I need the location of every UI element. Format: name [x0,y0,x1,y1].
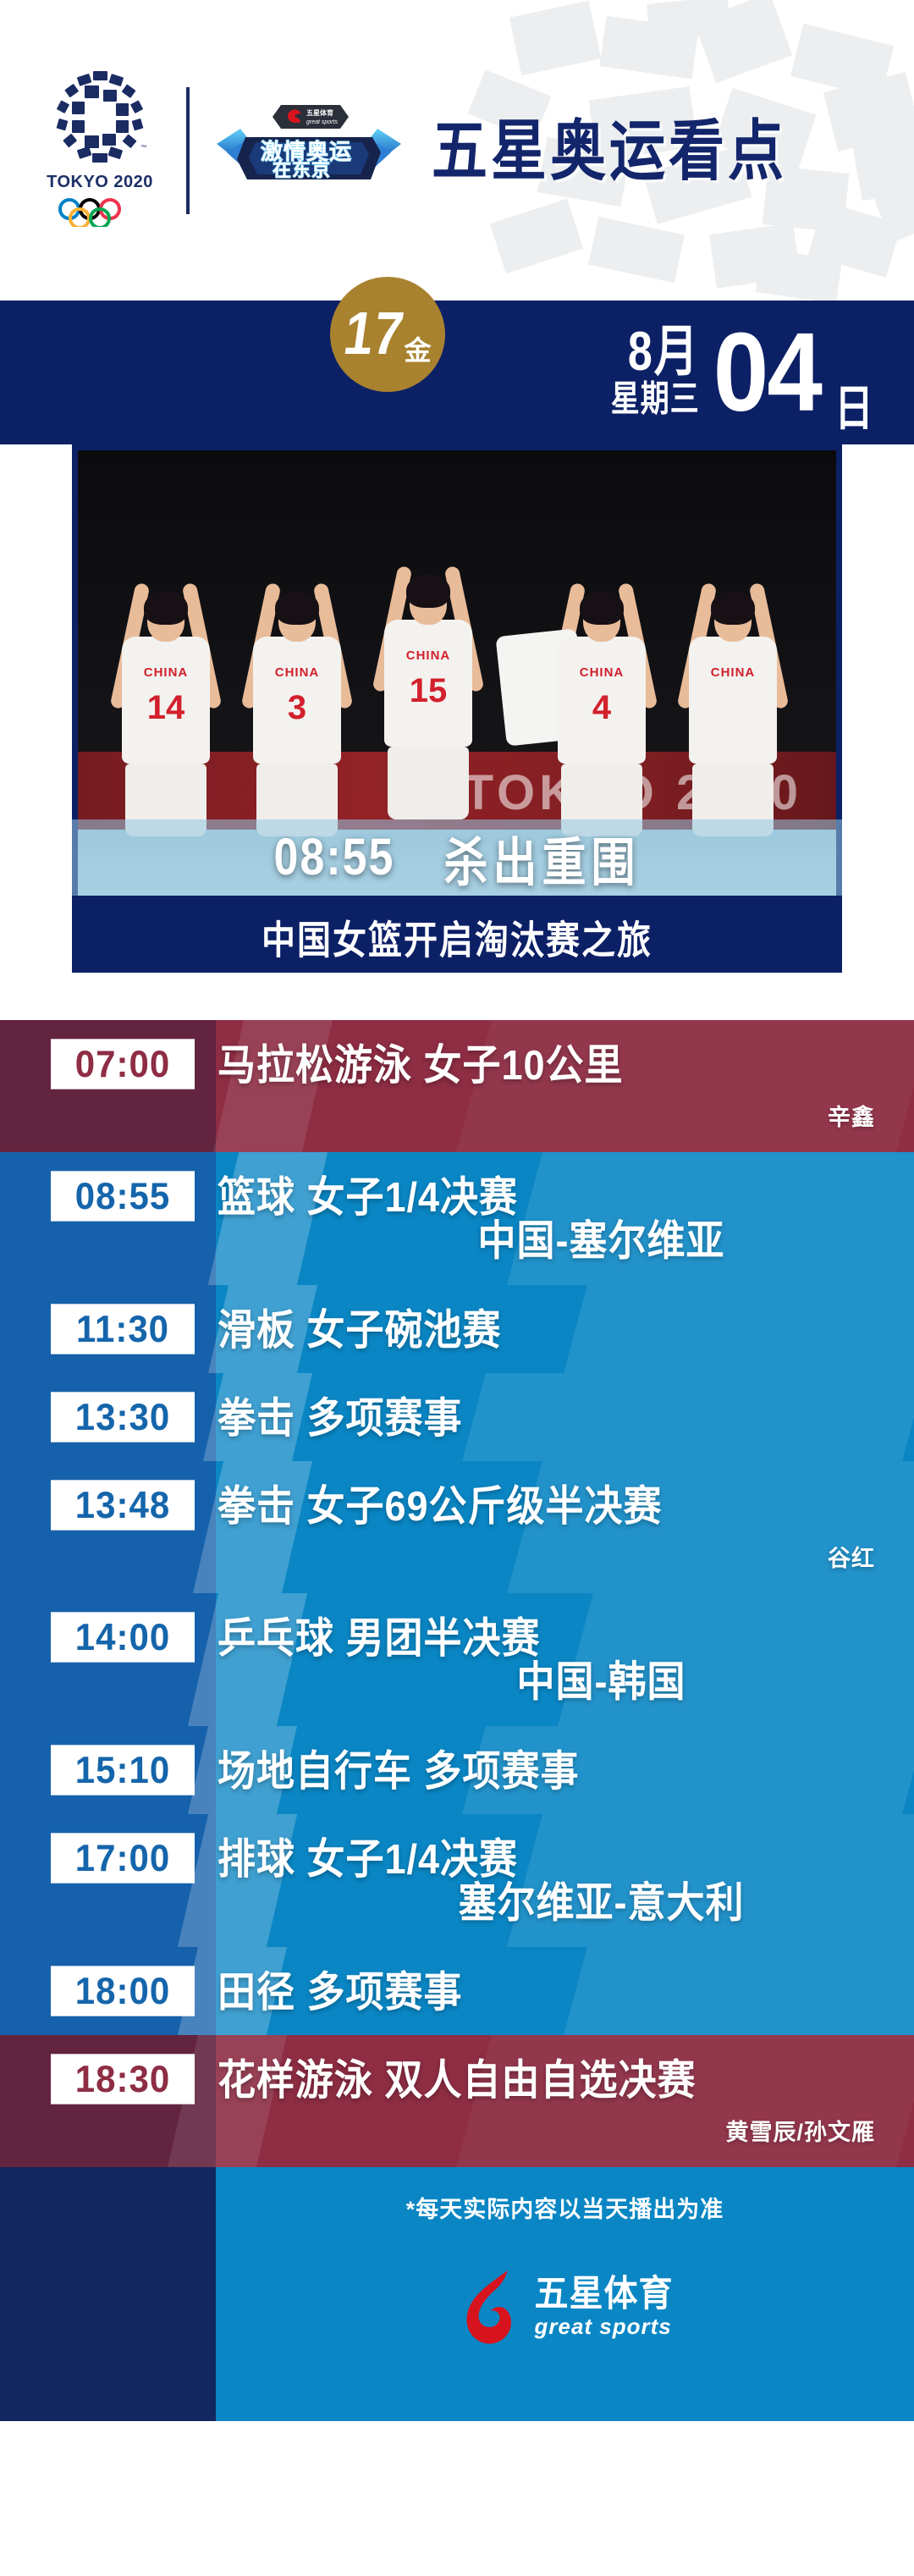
date-banner: 17 金 8月 星期三 04 日 [0,301,914,444]
date-display: 8月 星期三 04 日 [611,301,873,444]
schedule-list: 07:00马拉松游泳 女子10公里辛鑫08:55篮球 女子1/4决赛中国-塞尔维… [0,1020,914,2167]
schedule-row[interactable]: 13:48拳击 女子69公斤级半决赛谷红 [0,1461,914,1593]
schedule-row[interactable]: 15:10场地自行车 多项赛事 [0,1726,914,1814]
tokyo-2020-wordmark: TOKYO 2020 [47,173,153,192]
date-weekday: 星期三 [611,382,700,420]
featured-time: 08:55 [273,828,394,888]
gold-count-number: 17 [339,304,406,364]
event-time-badge: 08:55 [51,1171,195,1221]
jersey-text: CHINA [558,665,646,680]
event-athlete: 黄雪辰/孙文雁 [217,2114,875,2147]
date-month: 8月 [628,323,700,381]
player-figure: CHINA [683,598,783,836]
featured-subtitle: 中国女篮开启淘汰赛之旅 [262,909,652,966]
event-time-badge: 14:00 [51,1612,195,1662]
program-logo-jiqing-aoyun-zai-dongjing: 五星体育 great sports 激情奥运 在东京 [212,100,406,201]
page-header: ™ TOKYO 2020 [0,0,914,301]
date-day-unit: 日 [834,370,873,440]
schedule-row[interactable]: 13:30拳击 多项赛事 [0,1373,914,1461]
great-sports-logo-en: great sports [535,2315,674,2337]
event-title: 田径 多项赛事 [217,1967,875,2016]
header-divider [186,87,190,214]
event-matchup: 塞尔维亚-意大利 [217,1877,875,1928]
player-figure: CHINA15 [378,581,478,819]
event-time-badge: 15:10 [51,1745,195,1795]
event-athlete: 辛鑫 [217,1099,875,1132]
svg-text:great sports: great sports [306,119,338,125]
footer-left-band [0,2167,216,2421]
great-sports-logo-cn: 五星体育 [535,2276,674,2313]
event-title: 场地自行车 多项赛事 [217,1746,875,1795]
footer-disclaimer: *每天实际内容以当天播出为准 [216,2191,914,2224]
jersey-number: 14 [122,689,210,727]
svg-text:™: ™ [140,145,146,151]
jersey-text: CHINA [122,665,210,680]
featured-event-section: TOKYO 2020 CHINA14 CHINA3 CHINA15 [0,444,914,1020]
event-athlete: 谷红 [217,1540,875,1573]
gold-count-unit: 金 [404,329,431,368]
jersey-text: CHINA [689,665,777,680]
schedule-row[interactable]: 11:30滑板 女子碗池赛 [0,1285,914,1373]
schedule-row[interactable]: 18:00田径 多项赛事 [0,1947,914,2035]
featured-caption-bar: 08:55 杀出重围 [72,819,842,896]
event-title: 花样游泳 双人自由自选决赛 [217,2055,875,2104]
great-sports-g-icon [457,2267,523,2348]
event-time-badge: 07:00 [51,1039,195,1089]
date-day-number: 04 [713,327,821,418]
event-title: 滑板 女子碗池赛 [217,1305,875,1354]
event-matchup: 中国-塞尔维亚 [217,1215,875,1266]
gold-medal-count-badge: 17 金 [330,277,445,392]
event-title: 拳击 女子69公斤级半决赛 [217,1481,875,1531]
tokyo-2020-logo: ™ TOKYO 2020 [32,69,168,231]
event-title: 拳击 多项赛事 [217,1393,875,1442]
schedule-row[interactable]: 17:00排球 女子1/4决赛塞尔维亚-意大利 [0,1814,914,1947]
schedule-row[interactable]: 07:00马拉松游泳 女子10公里辛鑫 [0,1020,914,1152]
event-time-badge: 13:30 [51,1392,195,1442]
event-matchup: 中国-韩国 [217,1656,875,1707]
schedule-row[interactable]: 18:30花样游泳 双人自由自选决赛黄雪辰/孙文雁 [0,2035,914,2167]
event-time-badge: 11:30 [51,1304,195,1354]
tokyo-2020-emblem-icon: ™ [52,69,147,164]
featured-headline: 杀出重围 [443,820,640,896]
jersey-number: 4 [558,689,646,727]
event-time-badge: 13:48 [51,1480,195,1530]
event-time-badge: 18:30 [51,2054,195,2104]
page-footer: *每天实际内容以当天播出为准 五星体育 great sports [0,2167,914,2421]
jersey-number: 3 [253,689,341,727]
olympic-rings-icon [54,198,146,231]
featured-subtitle-bar: 中国女篮开启淘汰赛之旅 [72,902,842,973]
page-title: 五星奥运看点 [432,118,787,184]
jersey-number: 15 [384,672,472,710]
svg-text:五星体育: 五星体育 [306,108,333,117]
event-title: 马拉松游泳 女子10公里 [217,1040,875,1089]
jersey-text: CHINA [253,665,341,680]
great-sports-logo: 五星体育 great sports [216,2267,914,2348]
schedule-row[interactable]: 08:55篮球 女子1/4决赛中国-塞尔维亚 [0,1152,914,1285]
player-figure: CHINA14 [116,598,216,836]
event-time-badge: 17:00 [51,1833,195,1883]
jersey-text: CHINA [384,648,472,663]
event-time-badge: 18:00 [51,1966,195,2016]
svg-text:在东京: 在东京 [273,159,331,180]
player-figure: CHINA3 [247,598,347,836]
schedule-row[interactable]: 14:00乒乓球 男团半决赛中国-韩国 [0,1593,914,1726]
